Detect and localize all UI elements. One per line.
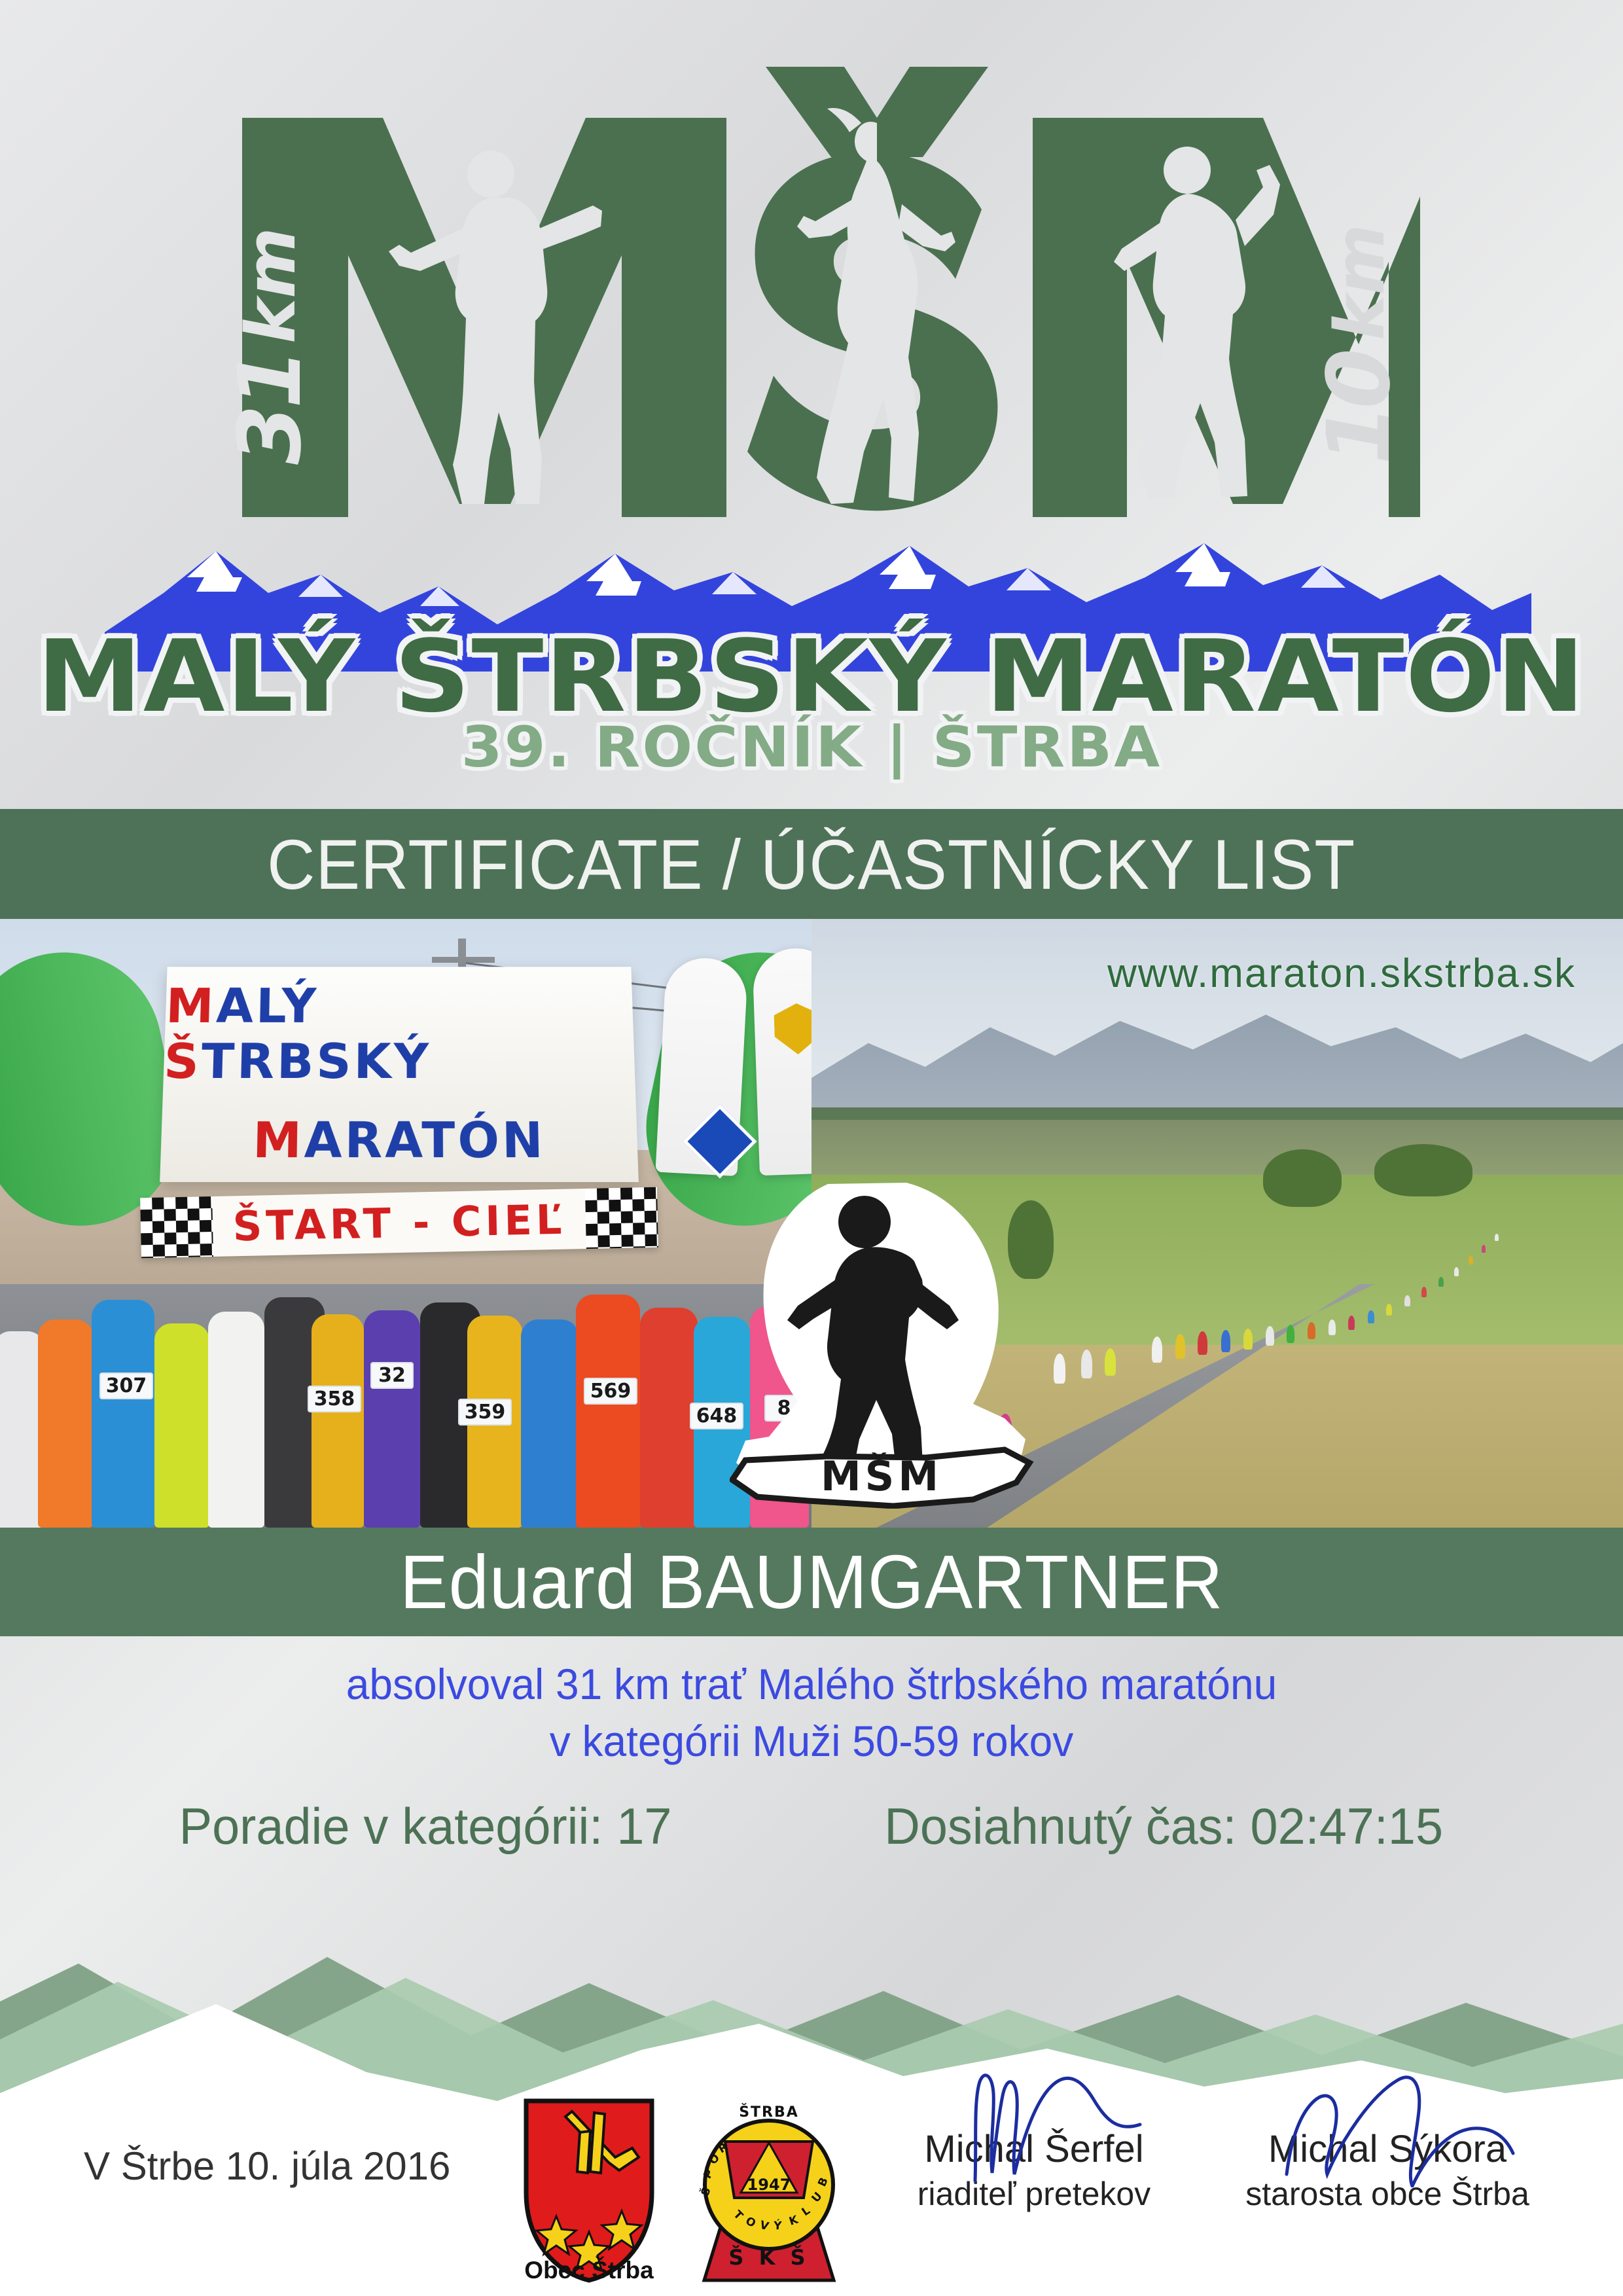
event-subtitle: 39. ROČNÍK | ŠTRBA (0, 715, 1623, 780)
msm-logo: 31 km (203, 46, 1420, 628)
athlete-name: Eduard BAUMGARTNER (400, 1538, 1223, 1626)
svg-text:Ý: Ý (773, 2218, 783, 2233)
runner (1105, 1348, 1116, 1376)
runner (1482, 1245, 1486, 1253)
runner-bib: 32 (370, 1362, 414, 1390)
category-rank: Poradie v kategórii: 17 (179, 1797, 671, 1856)
signature-ink (1250, 2070, 1525, 2187)
runner (1495, 1234, 1499, 1241)
runner-bib: 358 (308, 1386, 361, 1413)
runner (1348, 1316, 1355, 1330)
emblem-top-text: ŠTRBA (739, 2104, 799, 2121)
achievement-description: absolvoval 31 km trať Malého štrbského m… (24, 1656, 1599, 1770)
time-label: Dosiahnutý čas: (884, 1797, 1236, 1855)
website-url[interactable]: www.maraton.skstrba.sk (1107, 950, 1576, 997)
svg-text:km: km (231, 227, 311, 344)
certificate-page: 31 km (0, 0, 1623, 2296)
runner (1454, 1267, 1459, 1276)
runner (1175, 1334, 1185, 1359)
banner-line-1: MALÝ ŠTRBSKÝ (163, 979, 635, 1090)
runner (1438, 1277, 1444, 1287)
sks-club-emblem: ŠTRBA 1947 Š K Š Š P O R T O V Ý K L U B (694, 2093, 844, 2283)
pole-crossarm (432, 957, 495, 963)
runner (521, 1319, 579, 1528)
club-shield-icon (774, 1003, 811, 1055)
runner (1404, 1295, 1410, 1306)
emblem-year: 1947 (747, 2176, 791, 2194)
runner (1329, 1319, 1336, 1335)
runner (1308, 1322, 1315, 1339)
runner (1368, 1310, 1374, 1323)
runner (1081, 1350, 1092, 1378)
runner (1221, 1330, 1230, 1352)
photo-start-line: MALÝ ŠTRBSKÝ MARATÓN ŠTART - CIEĽ (0, 919, 811, 1528)
signature-ink (897, 2070, 1171, 2187)
runner (154, 1323, 209, 1528)
runner (1469, 1256, 1473, 1265)
svg-text:MŠM: MŠM (821, 1452, 942, 1500)
issue-date: V Štrbe 10. júla 2016 (84, 2144, 450, 2189)
svg-text:km: km (1320, 224, 1400, 340)
msm-banner-label: MŠM (732, 1450, 1029, 1506)
runner-bib: 569 (584, 1378, 637, 1405)
signature-block-mayor: Michal Sýkora starosta obce Štrba (1217, 2127, 1558, 2213)
finish-time: Dosiahnutý čas: 02:47:15 (884, 1797, 1443, 1856)
runner (208, 1312, 264, 1528)
runner (364, 1310, 420, 1528)
certificate-title-bar: CERTIFICATE / ÚČASTNÍCKY LIST (0, 809, 1623, 919)
runner (1054, 1354, 1065, 1384)
runner (1421, 1287, 1427, 1297)
runner (92, 1300, 154, 1528)
msm-runner-emblem: MŠM (730, 1175, 1037, 1509)
runner (1243, 1329, 1253, 1350)
rank-label: Poradie v kategórii: (179, 1797, 603, 1855)
runner (1198, 1331, 1207, 1355)
time-value: 02:47:15 (1250, 1797, 1443, 1855)
description-line-2: v kategórii Muži 50-59 rokov (24, 1713, 1599, 1770)
crest-caption: Obec Štrba (517, 2257, 661, 2284)
runner (312, 1314, 364, 1528)
results-row: Poradie v kategórii: 17 Dosiahnutý čas: … (0, 1797, 1623, 1856)
footer: V Štrbe 10. júla 2016 Obec Štrba ŠTRBA (0, 2088, 1623, 2296)
logo-block: 31 km (0, 0, 1623, 795)
runner (640, 1308, 698, 1528)
runner (38, 1319, 93, 1528)
runner-bib: 359 (458, 1399, 512, 1426)
strba-coat-of-arms (517, 2094, 661, 2284)
certificate-title: CERTIFICATE / ÚČASTNÍCKY LIST (267, 823, 1355, 905)
runner (1152, 1336, 1162, 1363)
description-line-1: absolvoval 31 km trať Malého štrbského m… (24, 1656, 1599, 1713)
athlete-name-bar: Eduard BAUMGARTNER (0, 1528, 1623, 1636)
runner (1386, 1304, 1392, 1316)
tree (1374, 1144, 1472, 1196)
signature-block-director: Michal Šerfel riaditeľ pretekov (864, 2127, 1204, 2213)
tree (1263, 1149, 1342, 1207)
svg-text:10: 10 (1309, 351, 1410, 465)
runner-crowd: 307 358 32 359 569 648 8 (0, 1150, 811, 1528)
runner (1287, 1325, 1294, 1343)
svg-text:31: 31 (220, 352, 321, 465)
runner (576, 1295, 640, 1528)
emblem-initials: Š K Š (728, 2244, 809, 2270)
runner-bib: 307 (99, 1372, 153, 1400)
sponsor-flag-b (752, 947, 811, 1175)
runner (1266, 1326, 1274, 1346)
rank-value: 17 (616, 1797, 671, 1855)
